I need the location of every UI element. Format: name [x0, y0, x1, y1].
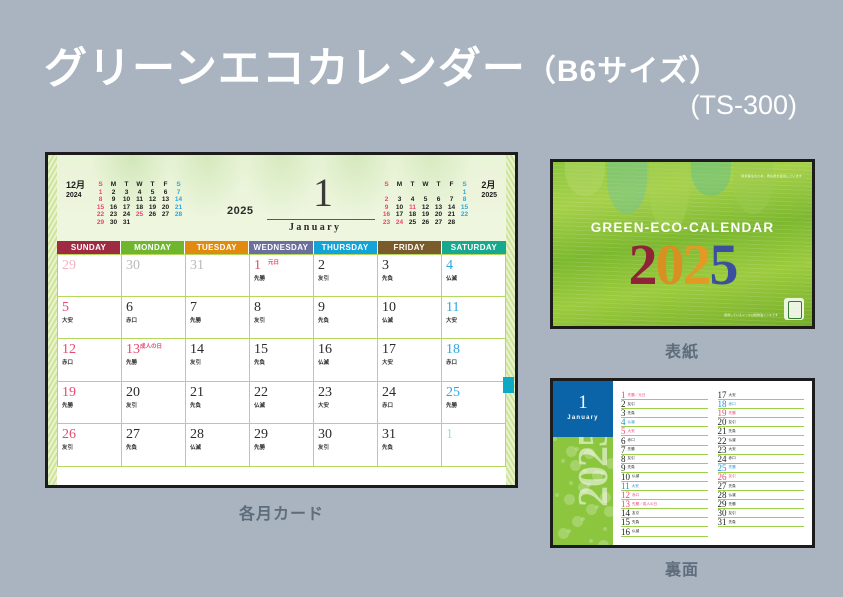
day-number: 2	[318, 258, 325, 273]
day-cell[interactable]: 14友引	[186, 339, 250, 382]
day-number: 25	[446, 385, 460, 400]
month-card-header: 12月 2024 SMTWTFS123456789101112131415161…	[57, 155, 506, 241]
day-cell[interactable]: 19先勝	[58, 382, 122, 425]
rokuyo-label: 先勝	[126, 358, 185, 366]
day-cell[interactable]: 25先勝	[442, 382, 506, 425]
day-cell[interactable]: 29	[58, 254, 122, 297]
bubble-decoration	[600, 492, 611, 503]
mini-day: 25	[133, 211, 146, 219]
back-month-name: January	[553, 415, 613, 421]
bubble-decoration	[558, 528, 569, 539]
rokuyo-label: 仏滅	[446, 274, 505, 282]
week-row: 12赤口13成人の日先勝14友引15先負16仏滅17大安18赤口	[58, 339, 506, 382]
back-date-note: 先負	[628, 463, 635, 472]
back-date-number: 8	[621, 455, 626, 463]
back-date-number: 6	[621, 437, 626, 445]
mini-day: 6	[159, 189, 172, 197]
back-date-note: 大安	[729, 445, 736, 454]
bubble-decoration	[564, 494, 575, 505]
week-row: 26友引27先負28仏滅29先勝30友引31先負1	[58, 424, 506, 467]
day-cell[interactable]: 30	[122, 254, 186, 297]
back-date-note: 仏滅	[628, 418, 635, 427]
mini-day: 22	[94, 211, 107, 219]
caption-back: 裏面	[548, 556, 816, 580]
back-date-note: 仏滅	[729, 491, 736, 500]
mini-day	[445, 189, 458, 197]
cover-year-digit: 2	[629, 232, 656, 297]
mini-dow: F	[159, 181, 172, 189]
mini-day: 19	[146, 204, 159, 212]
day-number: 9	[318, 300, 325, 315]
rokuyo-label: 友引	[254, 316, 313, 324]
mini-prev-year: 2024	[66, 191, 85, 201]
day-cell[interactable]: 12赤口	[58, 339, 122, 382]
day-number: 23	[318, 385, 332, 400]
day-number: 31	[382, 427, 396, 442]
mini-day: 29	[94, 219, 107, 227]
back-date-row[interactable]: 31先負	[718, 518, 805, 527]
back-date-note: 大安	[729, 391, 736, 400]
rokuyo-label: 先勝	[254, 274, 313, 282]
bubble-decoration	[606, 458, 613, 469]
back-date-row[interactable]: 16仏滅	[621, 527, 708, 536]
mini-day: 15	[94, 204, 107, 212]
rokuyo-label: 友引	[318, 443, 377, 451]
day-cell[interactable]: 3先負	[378, 254, 442, 297]
day-number: 29	[62, 258, 76, 273]
day-cell[interactable]: 1元日先勝	[250, 254, 314, 297]
day-cell[interactable]: 23大安	[314, 382, 378, 425]
bubble-decoration	[583, 469, 587, 473]
back-date-note: 大安	[628, 427, 635, 436]
month-name: January	[289, 222, 341, 233]
week-row: 2930311元日先勝2友引3先負4仏滅	[58, 254, 506, 297]
weekday-header-row: SUNDAYMONDAYTUESDAYWEDNESDAYTHURSDAYFRID…	[57, 241, 506, 254]
mini-day: 6	[432, 196, 445, 204]
mini-dow: T	[146, 181, 159, 189]
mini-day: 11	[133, 196, 146, 204]
back-date-number: 9	[621, 464, 626, 472]
mini-day: 3	[120, 189, 133, 197]
rokuyo-label: 大安	[318, 401, 377, 409]
back-date-note: 友引	[628, 454, 635, 463]
back-date-note: 先勝／元日	[628, 391, 646, 400]
mini-day: 18	[133, 204, 146, 212]
day-number: 31	[190, 258, 204, 273]
mini-calendar-previous-month: 12月 2024 SMTWTFS123456789101112131415161…	[66, 181, 185, 227]
mini-day: 3	[393, 196, 406, 204]
month-number: 1	[313, 173, 333, 213]
card-left-strip	[48, 155, 57, 485]
day-cell[interactable]: 7先勝	[186, 297, 250, 340]
mini-day	[380, 189, 393, 197]
cover-preview: 環境保全のため、再生紙を使用しています GREEN-ECO-CALENDAR 2…	[550, 159, 815, 329]
back-date-note: 赤口	[729, 454, 736, 463]
rokuyo-label: 先負	[190, 401, 249, 409]
title-main-text: グリーンエコカレンダー	[44, 45, 526, 93]
mini-day: 14	[445, 204, 458, 212]
bubble-decoration	[604, 506, 613, 517]
back-date-note: 仏滅	[632, 527, 639, 536]
day-cell[interactable]: 11大安	[442, 297, 506, 340]
mini-day: 16	[107, 204, 120, 212]
day-cell[interactable]: 18赤口	[442, 339, 506, 382]
back-date-note: 先勝	[729, 500, 736, 509]
mini-day	[458, 219, 471, 227]
rokuyo-label: 赤口	[446, 358, 505, 366]
mini-day: 23	[380, 219, 393, 227]
day-cell[interactable]: 5大安	[58, 297, 122, 340]
mini-day: 20	[432, 211, 445, 219]
back-date-number: 23	[718, 446, 727, 454]
weekday-header-monday: MONDAY	[121, 241, 185, 254]
back-date-number: 25	[718, 464, 727, 472]
mini-next-year: 2025	[481, 191, 497, 201]
back-date-number: 3	[621, 409, 626, 417]
mini-day: 18	[406, 211, 419, 219]
mini-day: 17	[393, 211, 406, 219]
mini-day: 21	[172, 204, 185, 212]
mini-day: 27	[159, 211, 172, 219]
day-number: 19	[62, 385, 76, 400]
weekday-header-friday: FRIDAY	[378, 241, 442, 254]
day-number: 22	[254, 385, 268, 400]
rokuyo-label: 大安	[382, 358, 441, 366]
mini-next-grid: SMTWTFS123456789101112131415161718192021…	[380, 181, 471, 227]
day-cell[interactable]: 16仏滅	[314, 339, 378, 382]
mini-day: 1	[458, 189, 471, 197]
day-number: 1	[446, 427, 453, 442]
day-number: 16	[318, 342, 332, 357]
mini-day: 22	[458, 211, 471, 219]
back-date-note: 赤口	[632, 491, 639, 500]
back-date-column-right: 17大安18赤口19先勝20友引21先負22仏滅23大安24赤口25先勝26友引…	[718, 391, 805, 541]
day-cell[interactable]: 26友引	[58, 424, 122, 467]
back-date-note: 先負	[729, 427, 736, 436]
mini-dow: T	[432, 181, 445, 189]
week-row: 5大安6赤口7先勝8友引9先負10仏滅11大安	[58, 297, 506, 340]
rokuyo-label: 先勝	[446, 401, 505, 409]
mini-dow: W	[133, 181, 146, 189]
mini-day: 15	[458, 204, 471, 212]
day-number: 11	[446, 300, 459, 315]
back-date-note: 赤口	[628, 436, 635, 445]
day-cell[interactable]: 4仏滅	[442, 254, 506, 297]
mini-dow: W	[419, 181, 432, 189]
day-cell[interactable]: 13成人の日先勝	[122, 339, 186, 382]
back-month-banner: 1 January	[553, 381, 613, 437]
mini-day	[159, 219, 172, 227]
rokuyo-label: 仏滅	[318, 358, 377, 366]
bubble-decoration	[592, 470, 603, 481]
mini-day: 16	[380, 211, 393, 219]
day-cell[interactable]: 2友引	[314, 254, 378, 297]
mini-dow: T	[406, 181, 419, 189]
day-number: 7	[190, 300, 197, 315]
mini-day: 27	[432, 219, 445, 227]
rokuyo-label: 先負	[126, 443, 185, 451]
day-number: 27	[126, 427, 140, 442]
month-grid: SUNDAYMONDAYTUESDAYWEDNESDAYTHURSDAYFRID…	[57, 241, 506, 482]
mini-day	[146, 219, 159, 227]
mini-day	[419, 189, 432, 197]
rokuyo-label: 友引	[126, 401, 185, 409]
rokuyo-label: 先負	[318, 316, 377, 324]
back-date-note: 大安	[632, 482, 639, 491]
rokuyo-label: 赤口	[126, 316, 185, 324]
mini-next-month: 2月	[481, 180, 495, 190]
day-cell[interactable]: 9先負	[314, 297, 378, 340]
back-date-note: 先勝	[628, 445, 635, 454]
rokuyo-label: 仏滅	[254, 401, 313, 409]
day-cell[interactable]: 30友引	[314, 424, 378, 467]
mini-day	[406, 189, 419, 197]
cover-year: 2025	[553, 234, 812, 296]
back-date-number: 21	[718, 427, 727, 435]
mini-prev-grid: SMTWTFS123456789101112131415161718192021…	[94, 181, 185, 227]
eco-mark-icon	[784, 298, 804, 320]
mini-day: 25	[406, 219, 419, 227]
mini-day: 7	[445, 196, 458, 204]
day-cell[interactable]: 10仏滅	[378, 297, 442, 340]
mini-day: 11	[406, 204, 419, 212]
day-number: 3	[382, 258, 389, 273]
day-cell[interactable]: 6赤口	[122, 297, 186, 340]
caption-cover: 表紙	[548, 338, 816, 362]
cover-micro-text-top: 環境保全のため、再生紙を使用しています	[741, 174, 802, 178]
back-date-note: 先勝／成人の日	[632, 500, 657, 509]
bubble-decoration	[572, 516, 583, 527]
day-number: 28	[190, 427, 204, 442]
mini-day: 10	[393, 204, 406, 212]
rokuyo-label: 赤口	[382, 401, 441, 409]
mini-day: 5	[146, 189, 159, 197]
rokuyo-label: 先負	[382, 274, 441, 282]
caption-month-card: 各月カード	[45, 500, 518, 524]
mini-day: 31	[120, 219, 133, 227]
back-month-number: 1	[553, 393, 613, 413]
day-cell[interactable]: 31先負	[378, 424, 442, 467]
mini-dow: M	[393, 181, 406, 189]
page-header: グリーンエコカレンダー（B6サイズ） (TS-300)	[0, 26, 843, 136]
mini-day: 5	[419, 196, 432, 204]
back-date-number: 27	[718, 482, 727, 490]
day-number: 15	[254, 342, 268, 357]
mini-day: 30	[107, 219, 120, 227]
mini-day: 23	[107, 211, 120, 219]
back-date-note: 先負	[729, 482, 736, 491]
back-date-number: 17	[718, 391, 727, 399]
mini-dow: S	[380, 181, 393, 189]
holiday-label: 成人の日	[140, 342, 162, 350]
back-date-lists: 1先勝／元日2友引3先負4仏滅5大安6赤口7先勝8友引9先負10仏滅11大安12…	[613, 381, 812, 545]
back-date-note: 先勝	[729, 409, 736, 418]
rokuyo-label: 友引	[62, 443, 121, 451]
rokuyo-label: 大安	[446, 316, 505, 324]
day-number: 13	[126, 342, 140, 357]
back-date-number: 18	[718, 400, 727, 408]
weekday-header-sunday: SUNDAY	[57, 241, 121, 254]
day-number: 6	[126, 300, 133, 315]
back-date-number: 16	[621, 528, 630, 536]
month-card-preview: 12月 2024 SMTWTFS123456789101112131415161…	[45, 152, 518, 488]
mini-day: 1	[94, 189, 107, 197]
day-cell[interactable]: 29先勝	[250, 424, 314, 467]
day-number: 29	[254, 427, 268, 442]
mini-day: 17	[120, 204, 133, 212]
mini-calendar-next-month: 2月 2025 SMTWTFS1234567891011121314151617…	[380, 181, 497, 227]
rokuyo-label: 友引	[190, 358, 249, 366]
back-date-number: 19	[718, 409, 727, 417]
bubble-decoration	[561, 459, 565, 463]
mini-day: 7	[172, 189, 185, 197]
day-cell[interactable]: 22仏滅	[250, 382, 314, 425]
bubble-decoration	[603, 527, 607, 531]
back-date-note: 先負	[628, 409, 635, 418]
card-index-tab	[503, 377, 514, 393]
back-date-number: 30	[718, 509, 727, 517]
rokuyo-label: 仏滅	[382, 316, 441, 324]
day-number: 8	[254, 300, 261, 315]
rokuyo-label: 先勝	[62, 401, 121, 409]
day-number: 21	[190, 385, 204, 400]
mini-dow: S	[94, 181, 107, 189]
week-rows: 2930311元日先勝2友引3先負4仏滅5大安6赤口7先勝8友引9先負10仏滅1…	[57, 254, 506, 467]
back-date-number: 28	[718, 491, 727, 499]
back-page-preview: 1 January 2025 1先勝／元日2友引3先負4仏滅5大安6赤口7先勝8…	[550, 378, 815, 548]
day-cell[interactable]: 15先負	[250, 339, 314, 382]
bubble-decoration	[555, 493, 559, 497]
day-cell[interactable]: 1	[442, 424, 506, 467]
back-date-number: 5	[621, 427, 626, 435]
day-cell[interactable]: 31	[186, 254, 250, 297]
day-cell[interactable]: 8友引	[250, 297, 314, 340]
mini-day: 2	[107, 189, 120, 197]
rokuyo-label: 先勝	[190, 316, 249, 324]
mini-day: 10	[120, 196, 133, 204]
back-date-number: 12	[621, 491, 630, 499]
card-right-strip	[506, 155, 515, 485]
back-date-note: 赤口	[729, 400, 736, 409]
rokuyo-label: 先勝	[254, 443, 313, 451]
back-left-panel: 1 January 2025	[553, 381, 613, 545]
mini-dow: S	[172, 181, 185, 189]
back-date-note: 友引	[729, 418, 736, 427]
day-cell[interactable]: 17大安	[378, 339, 442, 382]
bubble-decoration	[589, 539, 593, 543]
weekday-header-thursday: THURSDAY	[314, 241, 378, 254]
day-number: 1	[254, 258, 261, 273]
mini-day	[393, 189, 406, 197]
back-date-number: 1	[621, 391, 626, 399]
bubble-decoration	[598, 540, 609, 545]
mini-day: 24	[120, 211, 133, 219]
mini-day: 13	[432, 204, 445, 212]
back-date-note: 先負	[729, 518, 736, 527]
mini-day: 14	[172, 196, 185, 204]
cover-year-digit: 0	[656, 232, 683, 297]
back-date-note: 友引	[632, 509, 639, 518]
cover-year-digit: 5	[710, 232, 737, 297]
bubble-decoration	[553, 437, 557, 441]
month-title-block: 2025 1 January	[227, 169, 377, 237]
day-cell[interactable]: 27先負	[122, 424, 186, 467]
back-date-number: 24	[718, 455, 727, 463]
mini-prev-month: 12月	[66, 180, 85, 190]
back-date-note: 仏滅	[729, 436, 736, 445]
bubble-decoration	[578, 482, 589, 493]
day-number: 24	[382, 385, 396, 400]
back-date-number: 4	[621, 418, 626, 426]
day-number: 10	[382, 300, 396, 315]
day-cell[interactable]: 28仏滅	[186, 424, 250, 467]
mini-day: 24	[393, 219, 406, 227]
mini-day: 9	[380, 204, 393, 212]
back-date-note: 仏滅	[632, 472, 639, 481]
back-date-note: 友引	[729, 509, 736, 518]
mini-day	[432, 189, 445, 197]
page-title: グリーンエコカレンダー（B6サイズ）	[44, 34, 720, 96]
back-date-number: 2	[621, 400, 626, 408]
bubble-decoration	[570, 460, 581, 471]
back-date-number: 29	[718, 500, 727, 508]
weekday-header-tuesday: TUESDAY	[185, 241, 249, 254]
day-cell[interactable]: 21先負	[186, 382, 250, 425]
title-size-text: （B6サイズ）	[526, 55, 720, 88]
mini-dow: S	[458, 181, 471, 189]
mini-day: 13	[159, 196, 172, 204]
back-date-number: 10	[621, 473, 630, 481]
bubble-decoration	[569, 481, 573, 485]
mini-day: 12	[419, 204, 432, 212]
back-date-number: 20	[718, 418, 727, 426]
back-date-note: 先負	[632, 518, 639, 527]
mini-day: 20	[159, 204, 172, 212]
rokuyo-label: 友引	[318, 274, 377, 282]
mini-day: 21	[445, 211, 458, 219]
back-date-number: 7	[621, 446, 626, 454]
back-date-number: 13	[621, 500, 630, 508]
day-number: 30	[126, 258, 140, 273]
day-cell[interactable]: 20友引	[122, 382, 186, 425]
day-cell[interactable]: 24赤口	[378, 382, 442, 425]
weekday-header-wednesday: WEDNESDAY	[249, 241, 313, 254]
mini-day: 26	[419, 219, 432, 227]
rokuyo-label: 仏滅	[190, 443, 249, 451]
rokuyo-label: 先負	[254, 358, 313, 366]
mini-day	[133, 219, 146, 227]
day-number: 17	[382, 342, 396, 357]
mini-day: 28	[172, 211, 185, 219]
mini-dow: F	[445, 181, 458, 189]
day-number: 12	[62, 342, 76, 357]
back-date-note: 先勝	[729, 463, 736, 472]
day-number: 4	[446, 258, 453, 273]
bubble-decoration	[586, 504, 597, 515]
mini-day: 2	[380, 196, 393, 204]
bubble-decoration	[584, 448, 595, 459]
mini-dow: M	[107, 181, 120, 189]
day-number: 20	[126, 385, 140, 400]
mini-day: 26	[146, 211, 159, 219]
mini-next-label: 2月 2025	[481, 181, 497, 200]
day-number: 5	[62, 300, 69, 315]
back-date-number: 11	[621, 482, 630, 490]
mini-day: 8	[94, 196, 107, 204]
holiday-label: 元日	[268, 258, 279, 266]
month-year: 2025	[227, 205, 253, 217]
product-code: (TS-300)	[690, 90, 797, 121]
